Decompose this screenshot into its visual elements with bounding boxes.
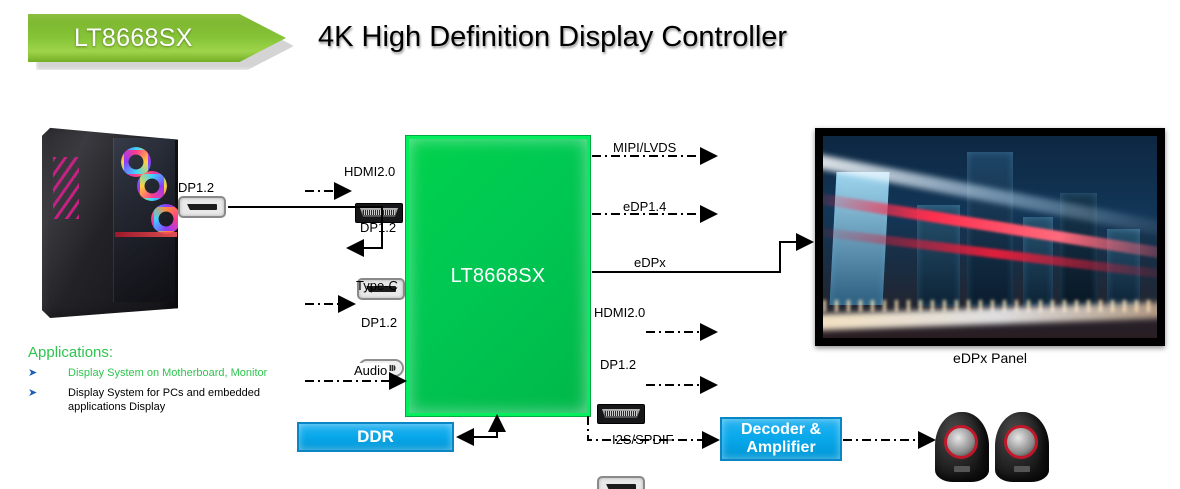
ddr-label: DDR bbox=[357, 427, 394, 447]
decoder-line-2: Amplifier bbox=[746, 439, 815, 456]
speaker-cone bbox=[1004, 425, 1038, 459]
speaker-badge bbox=[1014, 466, 1030, 472]
list-item: ➤ Display System on Motherboard, Monitor bbox=[28, 367, 278, 381]
banner-label: LT8668SX bbox=[28, 24, 193, 53]
product-banner: LT8668SX bbox=[28, 14, 296, 66]
chip-block: LT8668SX bbox=[406, 136, 590, 416]
input-label-hdmi: HDMI2.0 bbox=[344, 164, 395, 179]
output-displayport-icon bbox=[597, 476, 645, 489]
speaker-right bbox=[995, 412, 1049, 482]
input-label-audio: Audio bbox=[352, 363, 389, 378]
speaker-left bbox=[935, 412, 989, 482]
bullet-icon: ➤ bbox=[28, 387, 68, 415]
page-title: 4K High Definition Display Controller bbox=[318, 21, 787, 54]
decoder-line-1: Decoder & bbox=[741, 421, 821, 438]
output-label-edpx: eDPx bbox=[632, 255, 668, 270]
pc-tower-image bbox=[42, 122, 178, 318]
decoder-amplifier-label: Decoder & Amplifier bbox=[741, 421, 821, 458]
source-displayport-icon bbox=[178, 196, 226, 218]
rgb-fan-icon bbox=[137, 171, 167, 201]
list-item: ➤ Display System for PCs and embedded ap… bbox=[28, 387, 278, 415]
pc-case bbox=[42, 122, 178, 318]
application-text: Display System on Motherboard, Monitor bbox=[68, 367, 267, 381]
bullet-icon: ➤ bbox=[28, 367, 68, 381]
output-label-mipi-lvds: MIPI/LVDS bbox=[611, 140, 678, 155]
rgb-stripe bbox=[53, 157, 79, 219]
speaker-badge bbox=[954, 466, 970, 472]
applications-list: Applications: ➤ Display System on Mother… bbox=[28, 344, 278, 414]
ddr-block: DDR bbox=[297, 422, 454, 452]
applications-title: Applications: bbox=[28, 344, 278, 361]
input-sublabel-typec-dp: DP1.2 bbox=[361, 315, 397, 330]
panel-caption: eDPx Panel bbox=[815, 350, 1165, 366]
banner-arrow-shape: LT8668SX bbox=[28, 14, 286, 62]
output-label-hdmi: HDMI2.0 bbox=[594, 305, 645, 320]
application-text: Display System for PCs and embedded appl… bbox=[68, 387, 278, 415]
speaker-cone bbox=[944, 425, 978, 459]
output-label-i2s-spdif: I2S/SPDIF bbox=[610, 432, 675, 447]
panel-screen bbox=[823, 136, 1157, 338]
input-label-dp: DP1.2 bbox=[360, 220, 396, 235]
input-label-typec: Type-C bbox=[356, 278, 398, 293]
source-port-label: DP1.2 bbox=[178, 180, 214, 195]
panel-bezel bbox=[815, 128, 1165, 346]
output-label-dp: DP1.2 bbox=[600, 357, 636, 372]
gpu-accent bbox=[115, 232, 176, 237]
chip-label: LT8668SX bbox=[451, 265, 546, 288]
diagram-root: LT8668SX 4K High Definition Display Cont… bbox=[0, 0, 1180, 489]
output-label-edp14: eDP1.4 bbox=[621, 199, 668, 214]
display-panel-image: eDPx Panel bbox=[815, 128, 1165, 346]
output-hdmi-icon bbox=[597, 404, 645, 424]
speakers-image bbox=[935, 408, 1055, 484]
decoder-amplifier-block: Decoder & Amplifier bbox=[720, 417, 842, 461]
rgb-fan-icon bbox=[151, 204, 181, 234]
